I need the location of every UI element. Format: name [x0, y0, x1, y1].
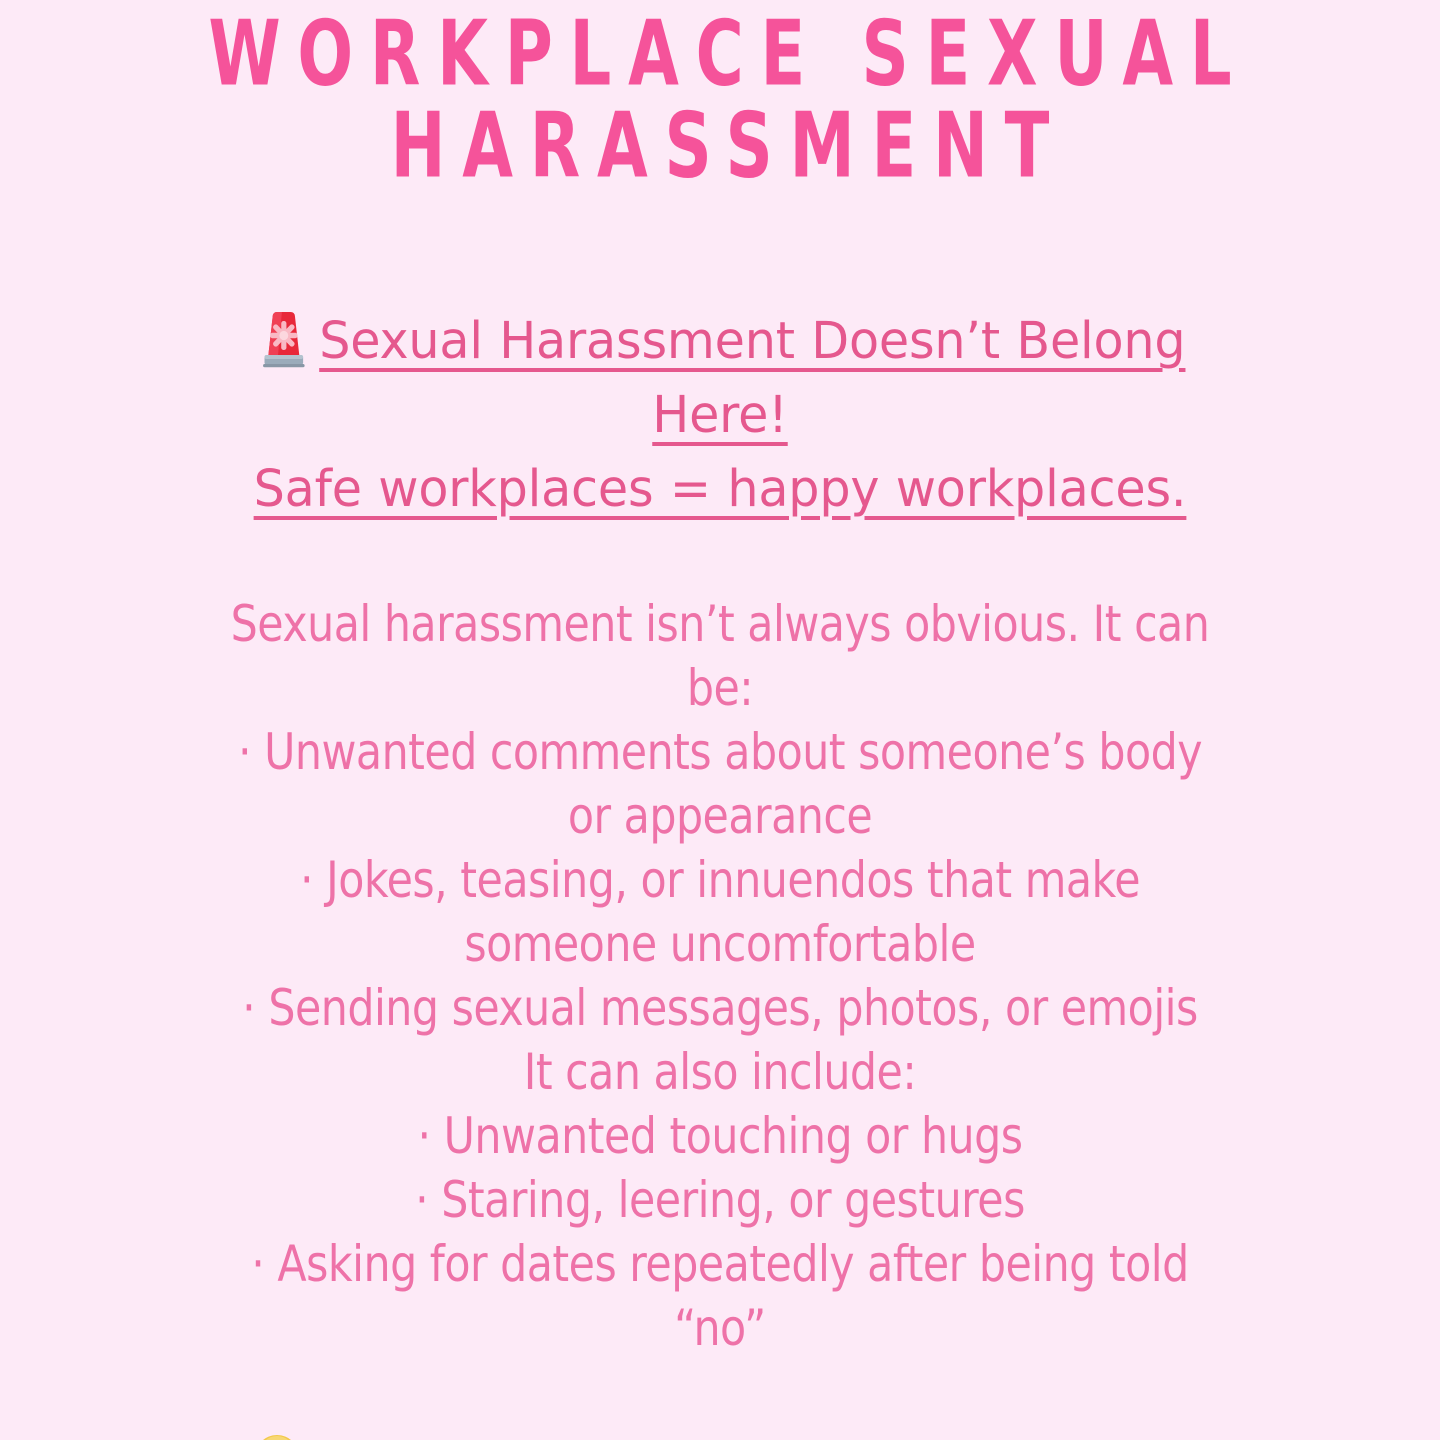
headline-line-1: Sexual Harassment Doesn’t Belong [319, 312, 1185, 371]
headline-text: Sexual Harassment Doesn’t BelongHere! Sa… [108, 305, 1332, 527]
poster-canvas: WORKPLACE SEXUAL HARASSMENT Sexua [0, 0, 1440, 1440]
body-line: · Asking for dates repeatedly after bein… [149, 1232, 1291, 1296]
body-line: · Unwanted touching or hugs [149, 1104, 1291, 1168]
body-line: “no” [149, 1296, 1291, 1360]
body-line: · Staring, leering, or gestures [149, 1168, 1291, 1232]
title-line-2: HARASSMENT [144, 96, 1296, 197]
body-line: be: [149, 656, 1291, 720]
body-line: or appearance [149, 784, 1291, 848]
body-line: · Unwanted comments about someone’s body [149, 720, 1291, 784]
body-line: · Sending sexual messages, photos, or em… [149, 976, 1291, 1040]
gold-emoji-partial-icon [248, 1428, 306, 1440]
headline-line-3: Safe workplaces = happy workplaces. [254, 460, 1187, 519]
body-line: It can also include: [149, 1040, 1291, 1104]
title-line-1: WORKPLACE SEXUAL [144, 4, 1296, 105]
body-line: someone uncomfortable [149, 912, 1291, 976]
body-block: Sexual harassment isn’t always obvious. … [52, 592, 1388, 1360]
headline-block: Sexual Harassment Doesn’t BelongHere! Sa… [86, 305, 1354, 527]
poster-title: WORKPLACE SEXUAL HARASSMENT [0, 4, 1440, 188]
headline-line-2: Here! [652, 386, 787, 445]
body-line: · Jokes, teasing, or innuendos that make [149, 848, 1291, 912]
body-line: Sexual harassment isn’t always obvious. … [149, 592, 1291, 656]
police-car-light-icon [255, 309, 313, 371]
